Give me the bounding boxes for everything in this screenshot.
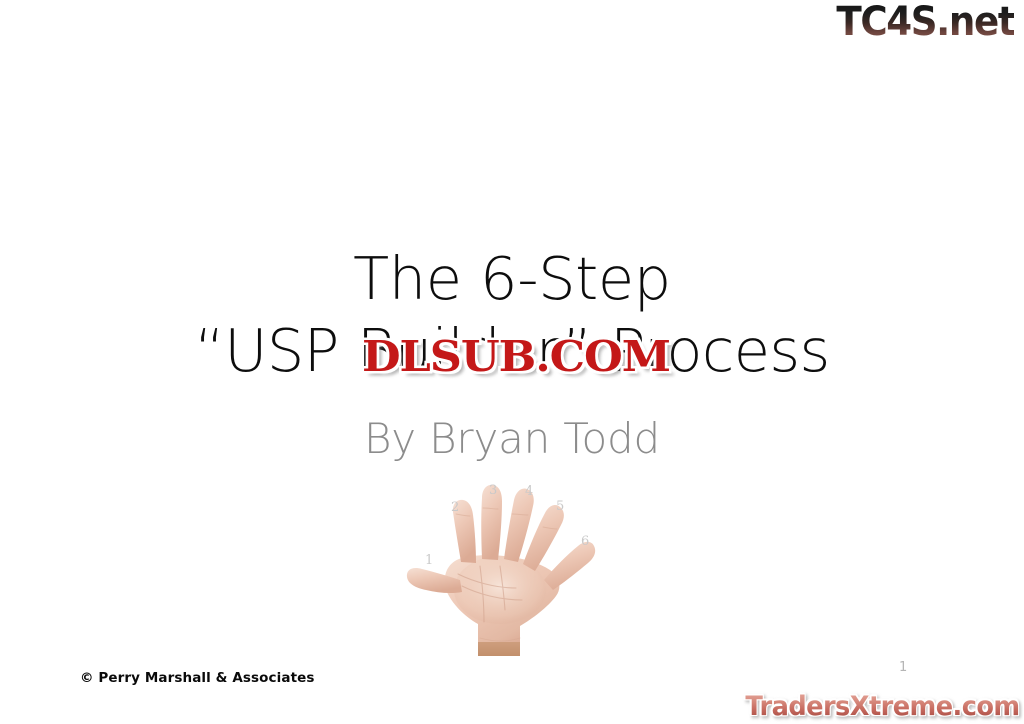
finger-label-5: 5 <box>556 500 564 513</box>
hand-illustration: 1 2 3 4 5 6 <box>404 470 614 658</box>
copyright-notice: © Perry Marshall & Associates <box>80 670 315 686</box>
finger-label-3: 3 <box>489 484 497 497</box>
finger-label-6: 6 <box>581 535 589 548</box>
author-byline: By Bryan Todd <box>0 413 1024 465</box>
tc4s-logo: TC4S.net <box>836 2 1014 42</box>
finger-label-4: 4 <box>525 485 533 498</box>
finger-label-1: 1 <box>425 554 433 567</box>
tradersxtreme-logo: TradersXtreme.com <box>746 691 1020 722</box>
hand-icon <box>404 470 614 658</box>
finger-label-2: 2 <box>451 501 459 514</box>
page-number: 1 <box>899 660 907 675</box>
slide-canvas: TC4S.net The 6-Step “USP Builder” Proces… <box>0 0 1024 724</box>
dlsub-watermark: DLSUB.COM <box>362 334 670 380</box>
title-line-1: The 6-Step <box>0 243 1024 315</box>
